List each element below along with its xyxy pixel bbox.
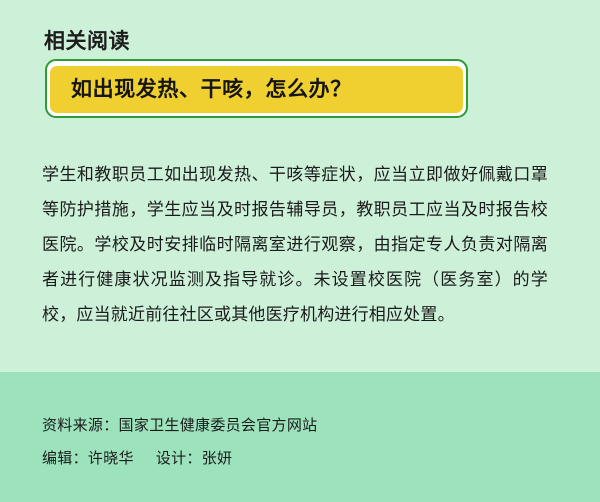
page-title: 相关阅读 <box>44 28 130 56</box>
footer-source-label: 资料来源： <box>42 417 119 434</box>
footer-credits-line: 编辑：许晓华设计：张妍 <box>42 447 232 471</box>
footer-designer-label: 设计： <box>156 450 202 467</box>
article-page: 相关阅读 如出现发热、干咳，怎么办？ 学生和教职员工如出现发热、干咳等症状，应当… <box>0 0 600 502</box>
footer-editor-value: 许晓华 <box>88 450 134 467</box>
footer-source-line: 资料来源：国家卫生健康委员会官方网站 <box>42 414 317 438</box>
related-question-card[interactable]: 如出现发热、干咳，怎么办？ <box>45 59 468 118</box>
footer-source-value: 国家卫生健康委员会官方网站 <box>119 417 318 434</box>
body-paragraph: 学生和教职员工如出现发热、干咳等症状，应当立即做好佩戴口罩等防护措施，学生应当及… <box>42 157 548 332</box>
footer-editor-label: 编辑： <box>42 450 88 467</box>
related-question-card-fill: 如出现发热、干咳，怎么办？ <box>50 66 463 113</box>
related-question-text: 如出现发热、干咳，怎么办？ <box>71 77 352 103</box>
footer-designer-value: 张妍 <box>202 450 233 467</box>
footer-band: 资料来源：国家卫生健康委员会官方网站 编辑：许晓华设计：张妍 <box>0 372 600 502</box>
